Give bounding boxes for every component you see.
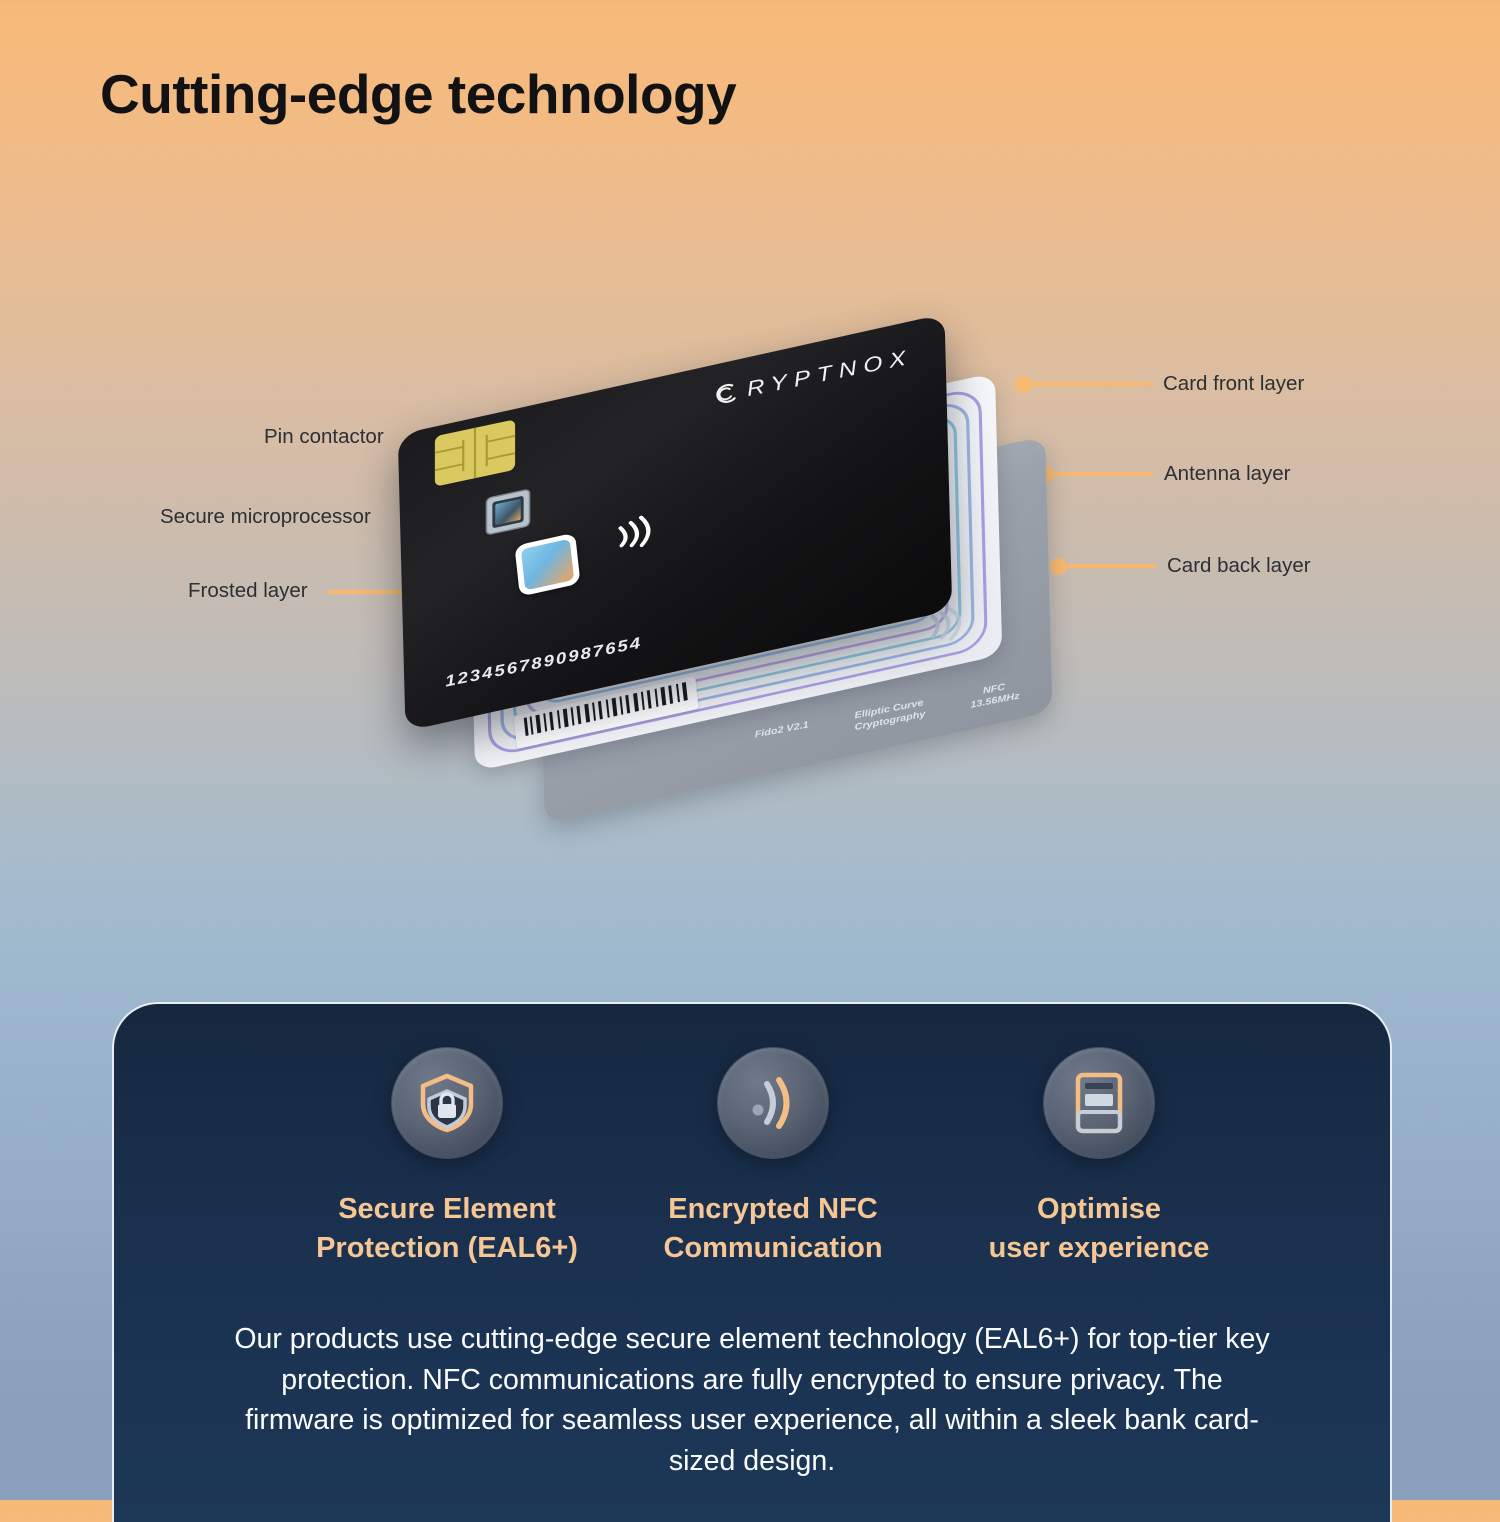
fingerprint-sensor [514, 533, 580, 597]
panel-body-text: Our products use cutting-edge secure ele… [114, 1319, 1390, 1481]
callout-label-antenna-layer: Antenna layer [1164, 462, 1291, 486]
card-device-icon-wrap [1044, 1048, 1154, 1158]
callout-label-secure-microprocessor: Secure microprocessor [160, 505, 371, 529]
card-device-icon [1074, 1072, 1124, 1134]
feature-title-optimise-ux: Optimiseuser experience [989, 1190, 1210, 1267]
feature-encrypted-nfc: Encrypted NFCCommunication [610, 1048, 936, 1267]
cryptnox-mark-icon [708, 377, 744, 411]
features-panel: Secure ElementProtection (EAL6+) Encrypt… [112, 1002, 1392, 1522]
card-layer-stack: Fido2 V2.1 Elliptic CurveCryptography NF… [395, 345, 1075, 795]
feature-optimise-ux: Optimiseuser experience [936, 1048, 1262, 1267]
spec-ecc: Elliptic CurveCryptography [853, 697, 926, 733]
feature-title-encrypted-nfc: Encrypted NFCCommunication [663, 1190, 882, 1267]
spec-nfc: NFC13.56MHz [969, 679, 1020, 711]
feature-list: Secure ElementProtection (EAL6+) Encrypt… [114, 1004, 1390, 1267]
brand-name: RYPTNOX [746, 345, 914, 402]
callout-label-card-back-layer: Card back layer [1167, 554, 1311, 578]
spec-fido2: Fido2 V2.1 [754, 719, 810, 752]
callout-label-card-front-layer: Card front layer [1163, 372, 1304, 396]
fingerprint-sensor-surface [521, 539, 574, 591]
callout-label-pin-contactor: Pin contactor [264, 425, 384, 449]
brand-logo: RYPTNOX [709, 344, 914, 411]
shield-lock-icon-wrap [392, 1048, 502, 1158]
nfc-signal-icon [745, 1074, 801, 1132]
nfc-signal-icon-wrap [718, 1048, 828, 1158]
shield-lock-icon [419, 1073, 475, 1133]
feature-secure-element: Secure ElementProtection (EAL6+) [284, 1048, 610, 1267]
lead-line-card-back-layer [1061, 564, 1156, 568]
nfc-wave-icon-front [611, 511, 660, 560]
card-number: 1234567890987654 [444, 634, 643, 691]
callout-label-frosted-layer: Frosted layer [188, 579, 308, 603]
feature-title-secure-element: Secure ElementProtection (EAL6+) [316, 1190, 578, 1267]
page-title: Cutting-edge technology [100, 62, 736, 126]
exploded-card-diagram: Pin contactor Secure microprocessor Fros… [0, 330, 1500, 890]
